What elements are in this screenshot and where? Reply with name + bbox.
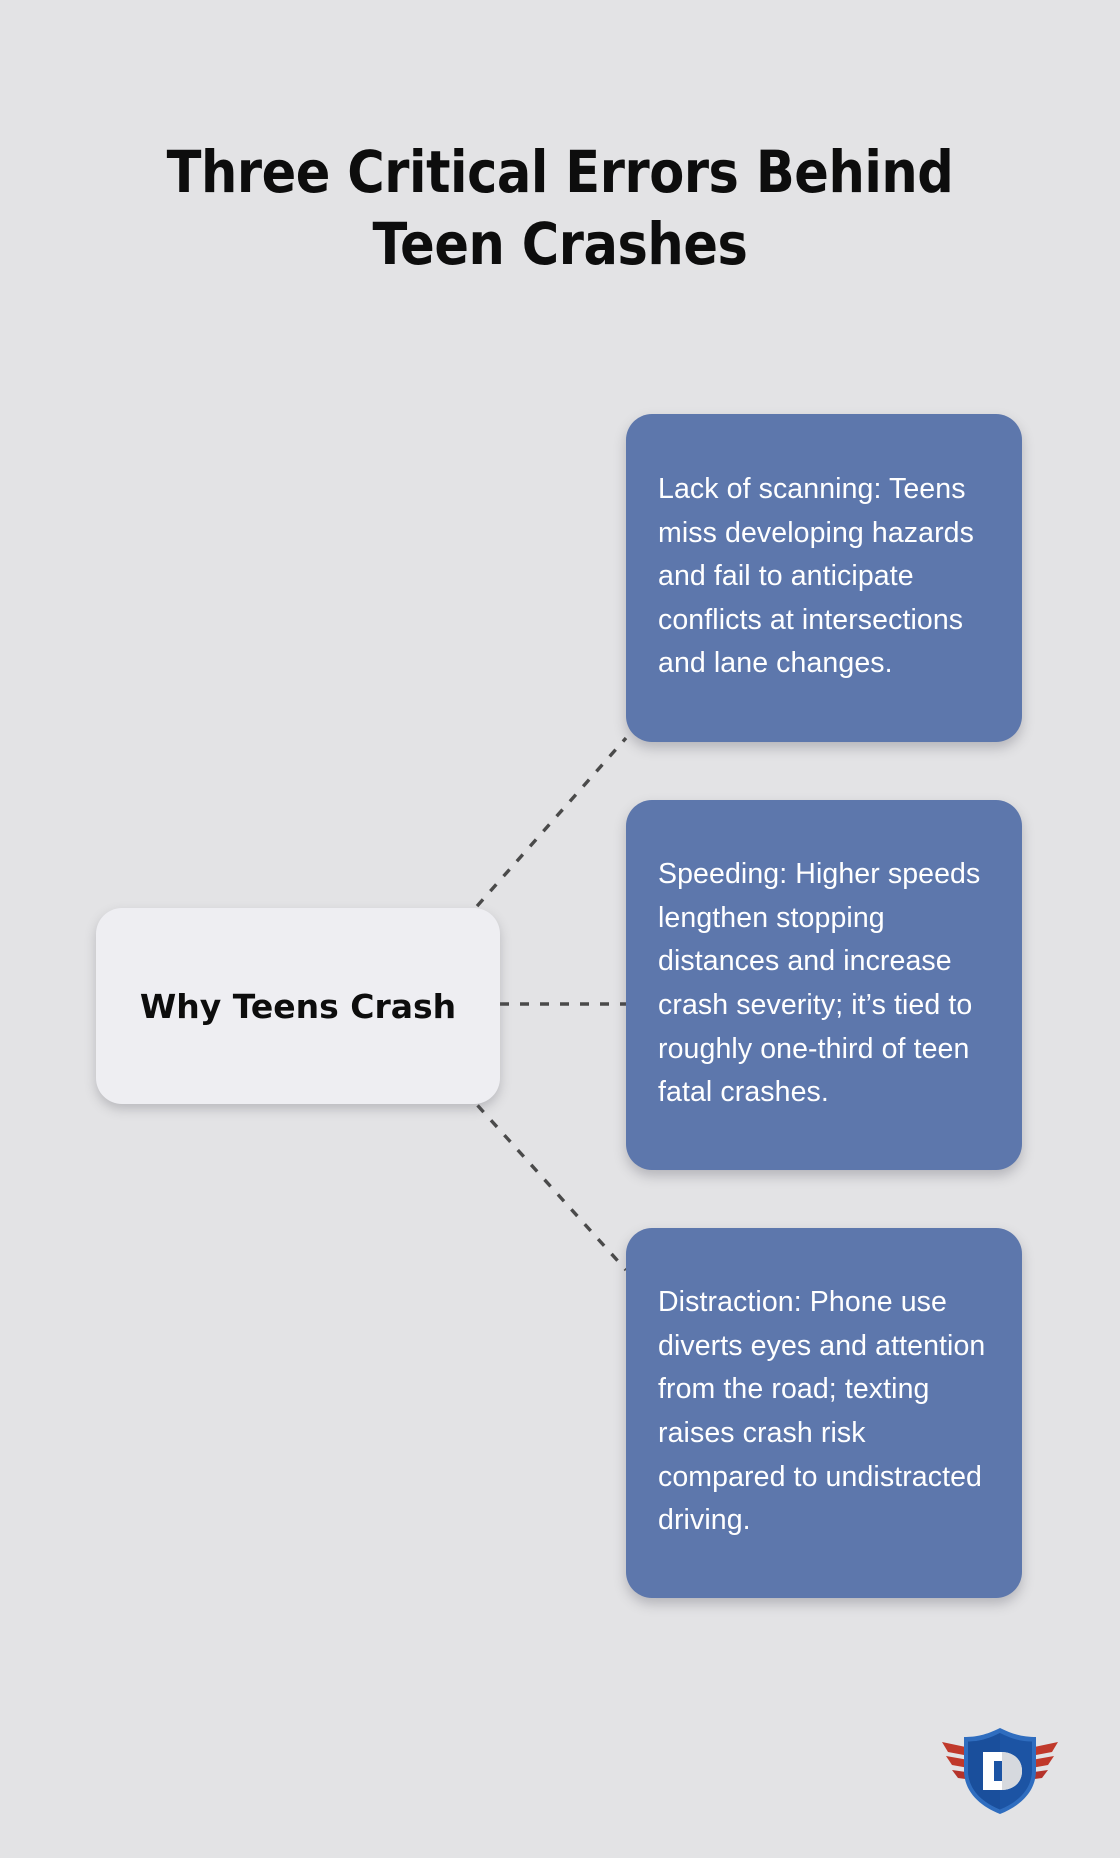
branch-card-speeding[interactable]: Speeding: Higher speeds lengthen stoppin… — [626, 800, 1022, 1170]
center-node-label: Why Teens Crash — [114, 987, 482, 1026]
branch-card-lack-of-scanning[interactable]: Lack of scanning: Teens miss developing … — [626, 414, 1022, 742]
branch-card-text: Distraction: Phone use diverts eyes and … — [658, 1281, 990, 1543]
center-node[interactable]: Why Teens Crash — [96, 908, 500, 1104]
branch-card-distraction[interactable]: Distraction: Phone use diverts eyes and … — [626, 1228, 1022, 1598]
infographic-canvas: Three Critical Errors Behind Teen Crashe… — [0, 0, 1120, 1858]
branch-card-text: Speeding: Higher speeds lengthen stoppin… — [658, 853, 990, 1115]
logo-letter-d — [983, 1752, 1022, 1790]
brand-logo[interactable] — [938, 1722, 1062, 1818]
branch-card-text: Lack of scanning: Teens miss developing … — [658, 468, 990, 686]
